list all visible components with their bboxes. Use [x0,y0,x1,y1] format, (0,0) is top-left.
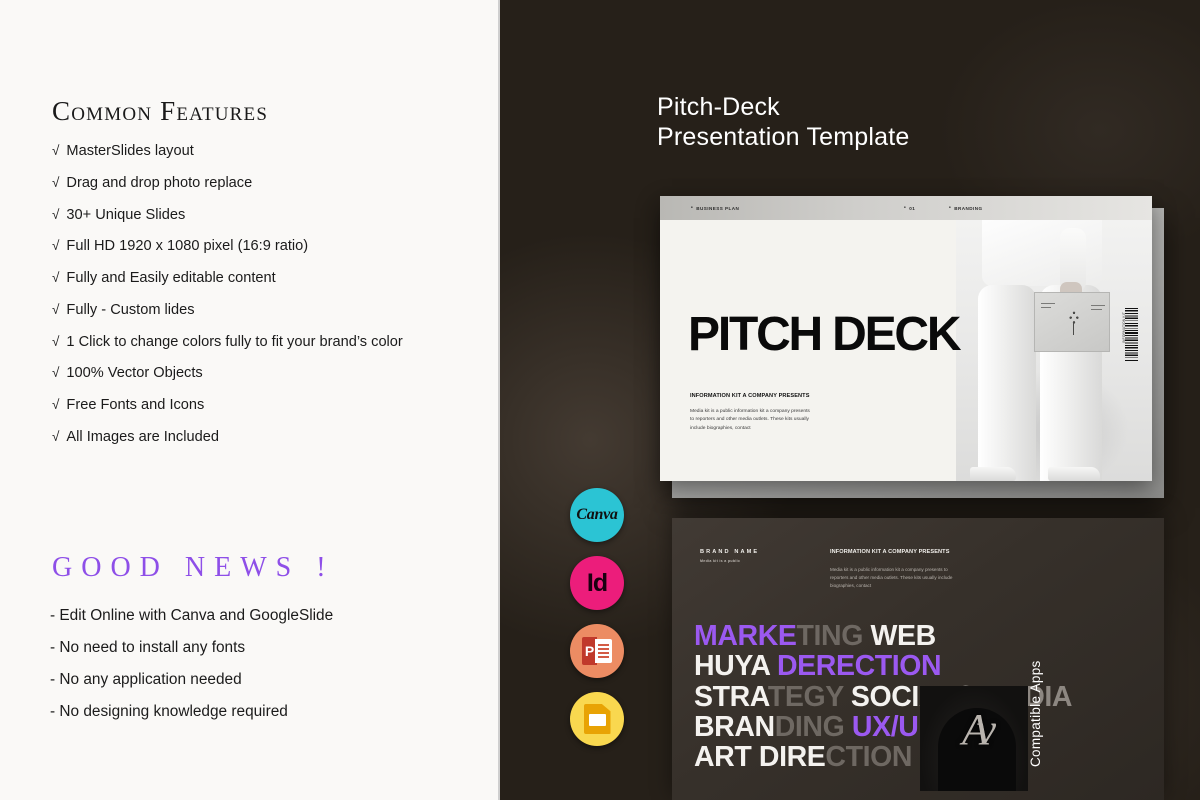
keyword-segment: WEB [863,620,936,652]
powerpoint-glyph: P [582,637,612,665]
deck-title-line1: Pitch-Deck [657,92,910,122]
keyword-segment [844,711,852,743]
check-icon: √ [52,335,59,349]
feature-label: Drag and drop photo replace [66,176,252,191]
check-icon: √ [52,398,59,412]
feature-item: √100% Vector Objects [52,366,482,381]
barcode-label: INFORMATION KIT [1122,312,1126,343]
slide-photo-dark: Αν [920,686,1028,791]
book-text-line [1091,309,1102,310]
topbar-business-plan: BUSINESS PLAN [691,205,739,211]
feature-item: √MasterSlides layout [52,144,482,159]
feature-item: √Drag and drop photo replace [52,176,482,191]
barcode-icon [1125,308,1138,362]
feature-label: Fully and Easily editable content [66,271,275,286]
feature-item: √Fully and Easily editable content [52,271,482,286]
compatible-apps-label: Compatible Apps [1028,617,1043,767]
feature-item: √Fully - Custom lides [52,303,482,318]
feature-label: Free Fonts and Icons [66,398,204,413]
feature-label: All Images are Included [66,430,219,445]
check-icon: √ [52,366,59,380]
good-news-item: - Edit Online with Canva and GoogleSlide [50,608,480,623]
book-illustration [1063,305,1085,333]
keyword-segment: TEGY [768,681,843,713]
photo-leg-left [978,285,1036,481]
monogram-logo: Αν [920,708,1028,752]
slide-topbar: BUSINESS PLAN 01 BRANDING [660,196,1152,220]
good-news-item: - No designing knowledge required [50,704,480,719]
feature-label: 30+ Unique Slides [66,208,185,223]
topbar-number: 01 [904,205,915,211]
feature-label: Fully - Custom lides [66,303,194,318]
indesign-label: Id [587,569,607,598]
deck-title: Pitch-Deck Presentation Template [657,92,910,152]
check-icon: √ [52,176,59,190]
feature-label: MasterSlides layout [66,144,193,159]
canva-icon[interactable]: Canva [570,488,624,542]
photo-shoe-left [970,467,1016,481]
feature-item: √1 Click to change colors fully to fit y… [52,335,482,350]
keyword-segment: CTION [825,741,912,773]
googleslides-icon[interactable] [570,692,624,746]
check-icon: √ [52,430,59,444]
slide-body-text: Media kit is a public information kit a … [830,566,960,591]
feature-label: 1 Click to change colors fully to fit yo… [66,335,402,350]
brand-name: BRAND NAME [700,549,759,555]
good-news-heading: GOOD NEWS ! [52,552,335,584]
slide-preview-dark[interactable]: BRAND NAME Media kit is a public INFORMA… [672,518,1164,800]
powerpoint-page [595,639,612,663]
keyword-segment: HUYA [694,650,777,682]
topbar-branding: BRANDING [949,205,983,211]
keyword-segment: MARKE [694,620,797,652]
photo-shoe-right [1048,467,1100,481]
check-icon: √ [52,239,59,253]
deck-title-line2: Presentation Template [657,122,910,152]
check-icon: √ [52,271,59,285]
canva-label: Canva [576,506,617,524]
feature-label: 100% Vector Objects [66,366,202,381]
powerpoint-icon[interactable]: P [570,624,624,678]
feature-item: √Full HD 1920 x 1080 pixel (16:9 ratio) [52,239,482,254]
keyword-line: MARKETING WEB [694,621,1154,651]
check-icon: √ [52,303,59,317]
slide-kicker: INFORMATION KIT A COMPANY PRESENTS [690,393,810,399]
slide-kicker: INFORMATION KIT A COMPANY PRESENTS [830,549,950,555]
feature-item: √30+ Unique Slides [52,208,482,223]
good-news-item: - No need to install any fonts [50,640,480,655]
keyword-segment: ART DIRE [694,741,825,773]
book-text-line [1041,307,1051,308]
slide-body-text: Media kit is a public information kit a … [690,408,812,433]
keyword-segment: UX/UI [852,711,926,743]
photo-book [1034,292,1110,352]
check-icon: √ [52,208,59,222]
indesign-icon[interactable]: Id [570,556,624,610]
keyword-line: HUYA DERECTION [694,651,1154,681]
features-panel: Common Features √MasterSlides layout√Dra… [0,0,500,800]
compatible-apps-list: Canva Id P [570,488,624,760]
keyword-segment: DING [775,711,845,743]
slide-headline: PITCH DECK [688,311,959,359]
keyword-segment: TING [797,620,863,652]
keyword-segment: DERECTION [777,650,941,682]
slides-screen-shape [589,714,606,726]
book-text-line [1041,303,1055,304]
good-news-item: - No any application needed [50,672,480,687]
preview-panel: Pitch-Deck Presentation Template BUSINES… [500,0,1200,800]
book-text-line [1091,305,1105,306]
feature-label: Full HD 1920 x 1080 pixel (16:9 ratio) [66,239,308,254]
check-icon: √ [52,144,59,158]
slide-preview-light[interactable]: BUSINESS PLAN 01 BRANDING INFORMATION KI… [660,196,1152,481]
feature-item: √Free Fonts and Icons [52,398,482,413]
brand-subtitle: Media kit is a public [700,559,740,563]
keyword-segment: BRAN [694,711,775,743]
page-title: Common Features [52,96,268,127]
feature-item: √All Images are Included [52,430,482,445]
slide-photo-fashion: INFORMATION KIT [956,220,1152,481]
keyword-segment: STRA [694,681,768,713]
googleslides-glyph [584,704,611,734]
good-news-list: - Edit Online with Canva and GoogleSlide… [50,608,480,736]
features-list: √MasterSlides layout√Drag and drop photo… [52,144,482,462]
